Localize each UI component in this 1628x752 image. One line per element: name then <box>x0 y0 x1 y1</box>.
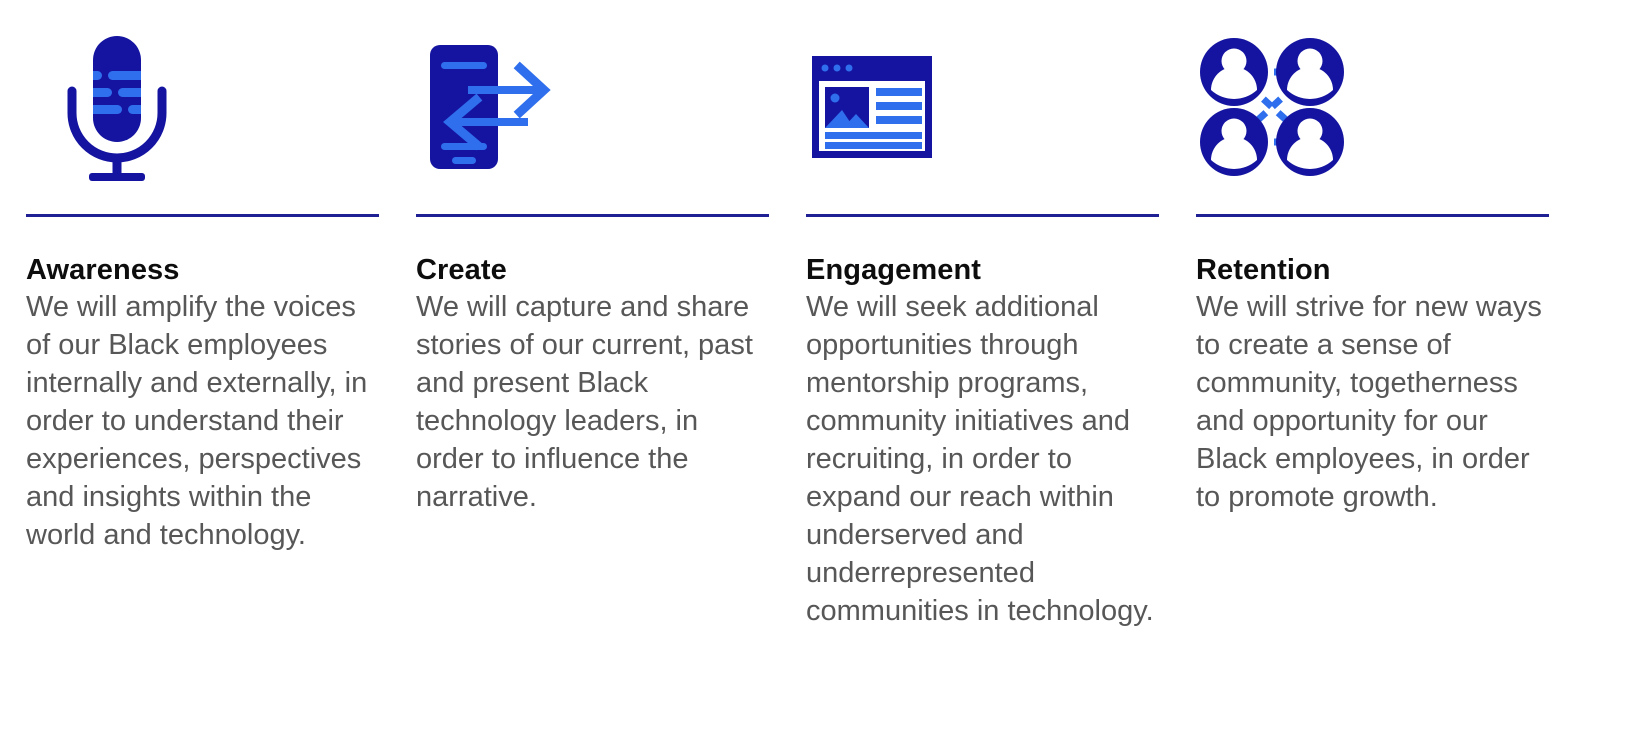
heading-create: Create <box>416 253 507 287</box>
infographic-board: Awareness We will amplify the voices of … <box>0 0 1628 752</box>
column-engagement: Engagement We will seek additional oppor… <box>806 0 1159 631</box>
icon-container-engagement <box>806 0 1159 214</box>
icon-container-awareness <box>26 0 379 214</box>
column-retention: Retention We will strive for new ways to… <box>1196 0 1549 517</box>
body-engagement: We will seek additional opportunities th… <box>806 289 1159 631</box>
heading-awareness: Awareness <box>26 253 180 287</box>
divider-retention <box>1196 214 1549 217</box>
body-retention: We will strive for new ways to create a … <box>1196 289 1549 517</box>
divider-engagement <box>806 214 1159 217</box>
column-create: Create We will capture and share stories… <box>416 0 769 517</box>
article-webpage-icon <box>810 54 934 160</box>
heading-engagement: Engagement <box>806 253 981 287</box>
icon-container-create <box>416 0 769 214</box>
user-network-icon <box>1198 36 1346 178</box>
microphone-icon <box>56 33 178 181</box>
body-awareness: We will amplify the voices of our Black … <box>26 289 379 555</box>
heading-retention: Retention <box>1196 253 1331 287</box>
body-create: We will capture and share stories of our… <box>416 289 769 517</box>
exchange-arrows-device-icon <box>424 40 552 174</box>
column-awareness: Awareness We will amplify the voices of … <box>26 0 379 555</box>
divider-awareness <box>26 214 379 217</box>
columns-container: Awareness We will amplify the voices of … <box>0 0 1628 631</box>
icon-container-retention <box>1196 0 1549 214</box>
divider-create <box>416 214 769 217</box>
